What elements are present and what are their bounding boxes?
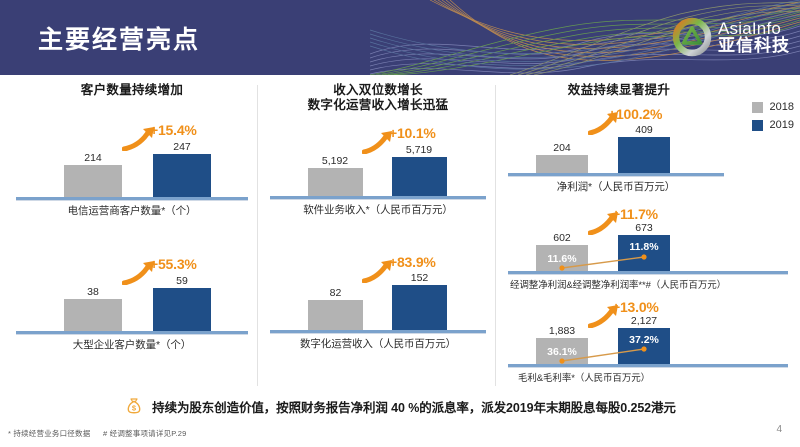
bar-2018 bbox=[64, 165, 122, 197]
chart-axis-label: 大型企业客户数量*（个） bbox=[16, 337, 248, 352]
chart-baseline bbox=[270, 330, 486, 333]
growth-label: +55.3% bbox=[150, 256, 197, 272]
charts-area: 客户数量持续增加 214 247 +15.4% bbox=[0, 75, 800, 390]
bar-2019 bbox=[618, 137, 670, 173]
column-2-title: 收入双位数增长 bbox=[270, 83, 486, 98]
chart-axis-label: 电信运营商客户数量*（个） bbox=[16, 203, 248, 218]
chart-baseline bbox=[16, 331, 248, 334]
bar-2019-value: 152 bbox=[392, 272, 447, 284]
bar-2019-value: 59 bbox=[153, 275, 211, 287]
bar-2018 bbox=[64, 299, 122, 331]
chart-axis-label: 软件业务收入*（人民币百万元） bbox=[270, 202, 486, 217]
bar-2018-value: 214 bbox=[64, 152, 122, 164]
slide: 主要经营亮点 bbox=[0, 0, 800, 447]
chart-baseline bbox=[508, 173, 724, 176]
chart-digital-operations-revenue: 82 152 +83.9% 数字化运营收入（人民币百万元） bbox=[270, 261, 486, 351]
chart-axis-label: 净利润*（人民币百万元） bbox=[508, 179, 724, 194]
chart-gross-profit: 1,883 36.1% 2,127 37.2% bbox=[508, 309, 788, 384]
bar-2018-value: 82 bbox=[308, 287, 363, 299]
legend-label-2018: 2018 bbox=[770, 101, 794, 113]
growth-label: +83.9% bbox=[389, 254, 436, 270]
column-revenue: 收入双位数增长 数字化运营收入增长迅猛 5,192 5,719 bbox=[258, 75, 496, 390]
column-2-subtitle: 数字化运营收入增长迅猛 bbox=[270, 98, 486, 113]
column-profitability: 效益持续显著提升 2018 2019 204 409 bbox=[496, 75, 800, 390]
footer-banner: $ 持续为股东创造价值，按照财务报告净利润 40 %的派息率，派发2019年末期… bbox=[0, 392, 800, 420]
legend-label-2019: 2019 bbox=[770, 119, 794, 131]
asiainfo-ring-icon bbox=[672, 17, 712, 57]
growth-label: +100.2% bbox=[608, 106, 662, 122]
footnote-1: * 持续经营业务口径数据 bbox=[8, 429, 90, 438]
bar-2018-value: 38 bbox=[64, 286, 122, 298]
chart-software-revenue: 5,192 5,719 +10.1% 软件业务收入*（人民币百万元） bbox=[270, 131, 486, 217]
page-title: 主要经营亮点 bbox=[38, 20, 200, 56]
growth-label: +15.4% bbox=[150, 122, 197, 138]
bar-2018 bbox=[536, 155, 588, 173]
bar-2019-value: 247 bbox=[153, 141, 211, 153]
column-3-title: 效益持续显著提升 bbox=[508, 83, 796, 98]
chart-net-profit: 204 409 +100.2% 净利润*（人民币百万元） bbox=[508, 114, 724, 194]
chart-enterprise-customers: 38 59 +55.3% 大型企业客户数量*（个） bbox=[16, 262, 248, 352]
column-1-title: 客户数量持续增加 bbox=[16, 83, 248, 98]
bar-2019 bbox=[392, 157, 447, 196]
logo-text-en: AsiaInfo bbox=[718, 20, 790, 37]
chart-axis-label: 数字化运营收入（人民币百万元） bbox=[270, 336, 486, 351]
logo-wordmark: AsiaInfo 亚信科技 bbox=[718, 20, 790, 55]
slide-header: 主要经营亮点 bbox=[0, 0, 800, 75]
bar-2018 bbox=[308, 300, 363, 330]
bar-2019 bbox=[153, 288, 211, 331]
bar-2018-value: 204 bbox=[536, 142, 588, 154]
bar-2019-value: 409 bbox=[618, 124, 670, 136]
footer-message: 持续为股东创造价值，按照财务报告净利润 40 %的派息率，派发2019年末期股息… bbox=[152, 397, 676, 416]
growth-label: +13.0% bbox=[612, 299, 659, 315]
legend-item-2019: 2019 bbox=[752, 119, 794, 131]
bar-2019 bbox=[392, 285, 447, 330]
chart-baseline bbox=[270, 196, 486, 199]
footnotes: * 持续经营业务口径数据 # 经调整事项请详见P.29 bbox=[8, 428, 187, 439]
footnote-2: # 经调整事项请详见P.29 bbox=[103, 429, 187, 438]
bar-2018-value: 5,192 bbox=[302, 155, 368, 167]
chart-adjusted-net-profit: 602 11.6% 673 11.8% bbox=[508, 216, 788, 291]
column-customer-count: 客户数量持续增加 214 247 +15.4% bbox=[0, 75, 258, 390]
svg-text:$: $ bbox=[132, 404, 137, 413]
legend-swatch-2018 bbox=[752, 102, 763, 113]
rate-trend-line bbox=[508, 216, 788, 274]
chart-baseline bbox=[16, 197, 248, 200]
chart-telecom-customers: 214 247 +15.4% 电信运营商客户数量*（个） bbox=[16, 128, 248, 218]
logo-text-cn: 亚信科技 bbox=[718, 37, 790, 54]
chart-axis-label: 经调整净利润&经调整净利润率**#（人民币百万元） bbox=[508, 277, 788, 291]
legend-item-2018: 2018 bbox=[752, 101, 794, 113]
growth-label: +10.1% bbox=[389, 125, 436, 141]
rate-trend-line bbox=[508, 309, 788, 367]
page-number: 4 bbox=[776, 424, 782, 435]
bar-2019-value: 5,719 bbox=[386, 144, 452, 156]
growth-label: +11.7% bbox=[612, 206, 658, 222]
money-bag-icon: $ bbox=[124, 396, 144, 416]
bar-2019 bbox=[153, 154, 211, 197]
legend-swatch-2019 bbox=[752, 120, 763, 131]
chart-legend: 2018 2019 bbox=[752, 101, 794, 131]
chart-axis-label: 毛利&毛利率*（人民币百万元） bbox=[508, 370, 788, 384]
asiainfo-logo: AsiaInfo 亚信科技 bbox=[672, 8, 790, 66]
bar-2018 bbox=[308, 168, 363, 196]
